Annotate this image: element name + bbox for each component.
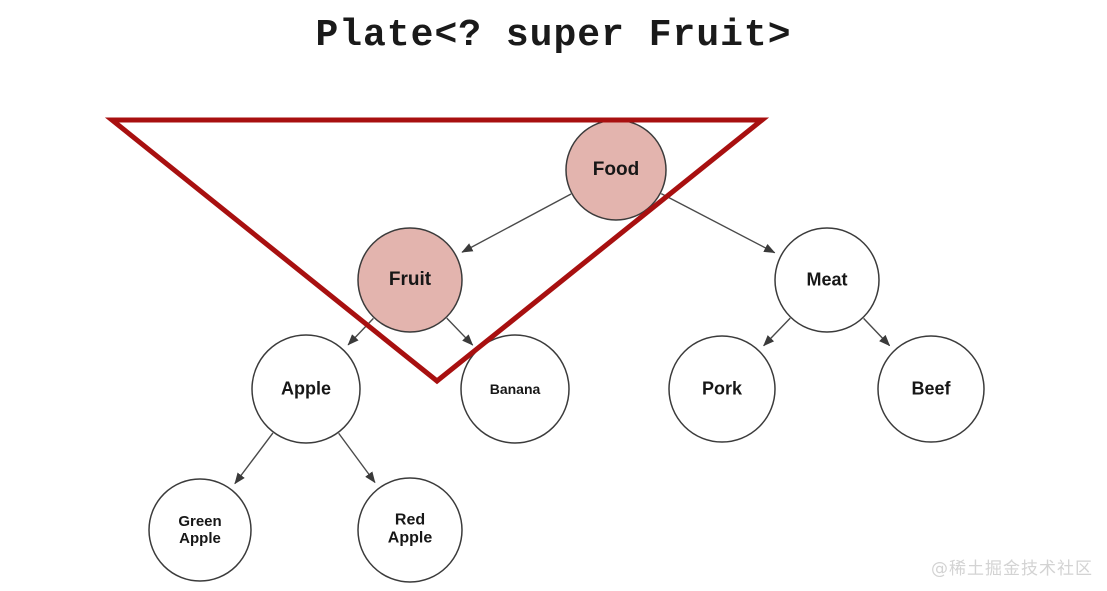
edges-layer: [235, 194, 890, 484]
node-beef[interactable]: [878, 336, 984, 442]
edge-meat-to-pork: [764, 318, 791, 346]
node-meat[interactable]: [775, 228, 879, 332]
watermark: @稀土掘金技术社区: [931, 554, 1093, 579]
node-apple[interactable]: [252, 335, 360, 443]
node-red-apple[interactable]: [358, 478, 462, 582]
edge-food-to-fruit: [462, 194, 571, 252]
edge-apple-to-green-apple: [235, 433, 273, 484]
edge-apple-to-red-apple: [339, 433, 375, 482]
edge-fruit-to-banana: [447, 318, 473, 345]
node-fruit[interactable]: [358, 228, 462, 332]
node-pork[interactable]: [669, 336, 775, 442]
node-food[interactable]: [566, 120, 666, 220]
edge-meat-to-beef: [864, 318, 890, 345]
nodes-layer: [149, 120, 984, 582]
slide-canvas: Plate<? super Fruit> FoodFruitMeatAppleB…: [0, 0, 1107, 591]
edge-food-to-meat: [661, 194, 774, 253]
hierarchy-diagram: [0, 0, 1107, 591]
node-green-apple[interactable]: [149, 479, 251, 581]
